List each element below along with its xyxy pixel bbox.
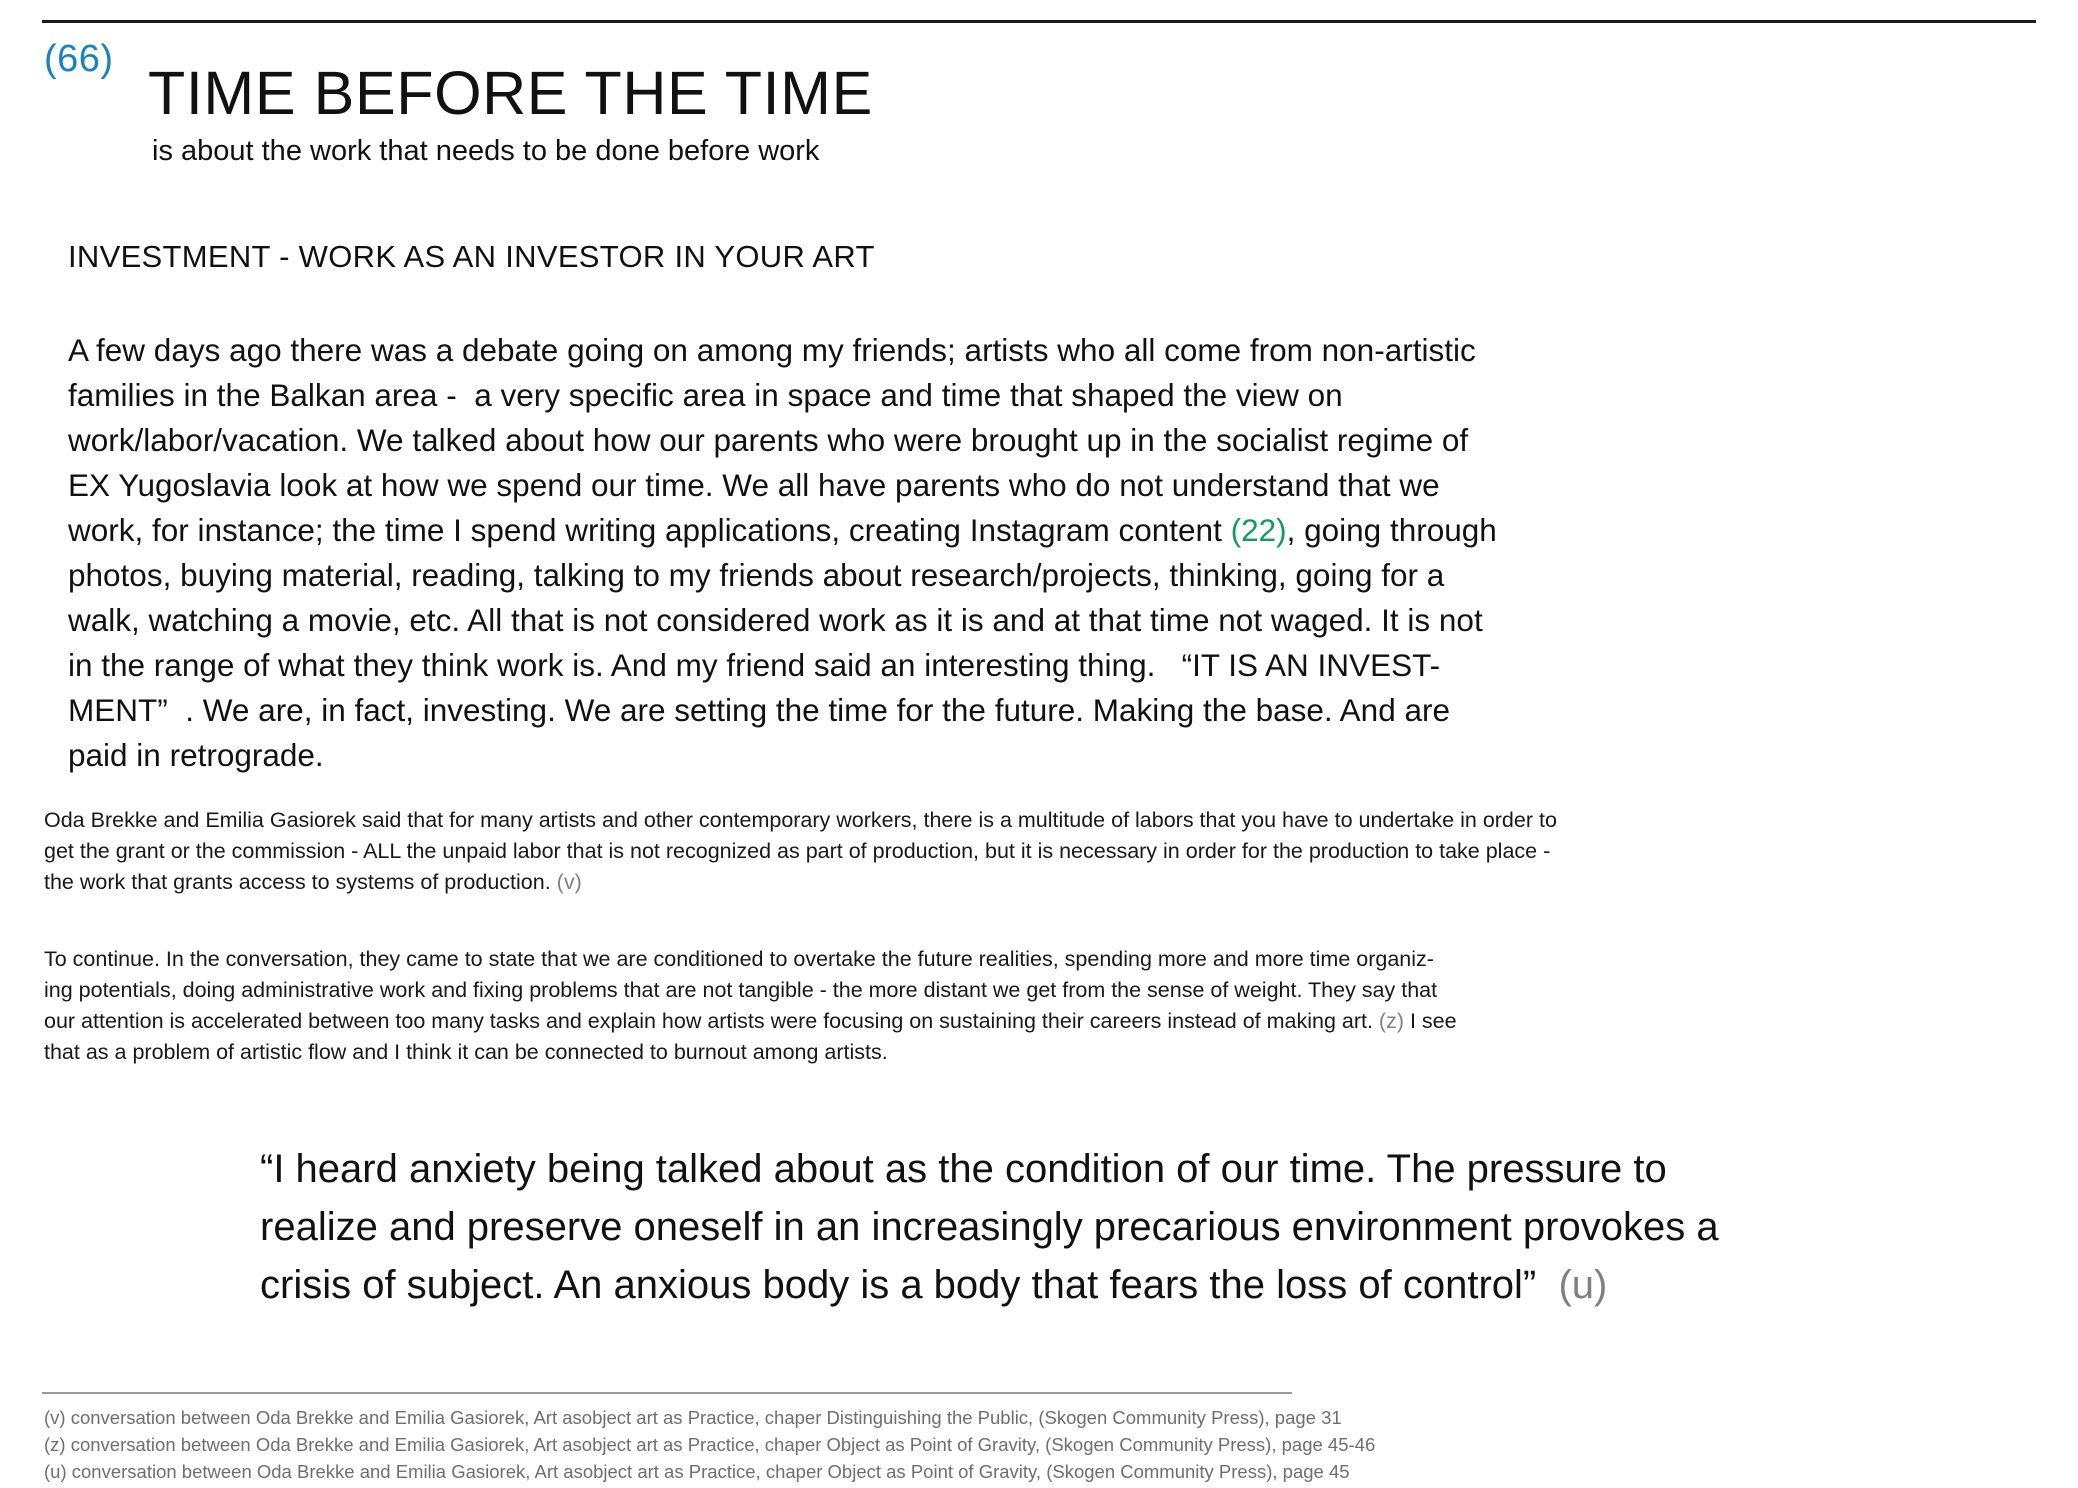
title-block: TIME BEFORE THE TIME is about the work t… bbox=[148, 62, 1648, 170]
footnote-line-v: (v) conversation between Oda Brekke and … bbox=[44, 1404, 2034, 1431]
body-line: that as a problem of artistic flow and I… bbox=[44, 1037, 2034, 1068]
document-page: (66) TIME BEFORE THE TIME is about the w… bbox=[0, 0, 2078, 1488]
pull-quote-line: “I heard anxiety being talked about as t… bbox=[260, 1140, 2000, 1198]
pull-quote-line: crisis of subject. An anxious body is a … bbox=[260, 1256, 2000, 1314]
body-line: photos, buying material, reading, talkin… bbox=[68, 553, 1828, 598]
page-subtitle: is about the work that needs to be done … bbox=[152, 133, 1648, 169]
secondary-paragraph-2: To continue. In the conversation, they c… bbox=[44, 944, 2034, 1068]
pull-quote-text: crisis of subject. An anxious body is a … bbox=[260, 1263, 1558, 1307]
body-line: work/labor/vacation. We talked about how… bbox=[68, 418, 1828, 463]
pull-quote-line: realize and preserve oneself in an incre… bbox=[260, 1198, 2000, 1256]
pull-quote: “I heard anxiety being talked about as t… bbox=[260, 1140, 2000, 1314]
header-divider-rule bbox=[42, 20, 2036, 23]
page-number: (66) bbox=[44, 40, 114, 78]
body-line: the work that grants access to systems o… bbox=[44, 867, 2034, 898]
body-line-text: the work that grants access to systems o… bbox=[44, 870, 557, 894]
secondary-paragraph-1: Oda Brekke and Emilia Gasiorek said that… bbox=[44, 805, 2034, 898]
reference-marker-v: (v) bbox=[557, 870, 582, 894]
reference-marker-z: (z) bbox=[1379, 1009, 1404, 1033]
body-line: A few days ago there was a debate going … bbox=[68, 328, 1828, 373]
footnote-line-u: (u) conversation between Oda Brekke and … bbox=[44, 1458, 2034, 1485]
body-line: families in the Balkan area - a very spe… bbox=[68, 373, 1828, 418]
footnote-divider-rule bbox=[42, 1392, 1292, 1394]
body-line: get the grant or the commission - ALL th… bbox=[44, 836, 2034, 867]
body-line: Oda Brekke and Emilia Gasiorek said that… bbox=[44, 805, 2034, 836]
body-line: To continue. In the conversation, they c… bbox=[44, 944, 2034, 975]
footnote-line-z: (z) conversation between Oda Brekke and … bbox=[44, 1431, 2034, 1458]
body-line: walk, watching a movie, etc. All that is… bbox=[68, 598, 1828, 643]
body-line-text: , going through bbox=[1287, 512, 1497, 548]
main-body-paragraph: A few days ago there was a debate going … bbox=[68, 328, 1828, 778]
footnotes-block: (v) conversation between Oda Brekke and … bbox=[44, 1404, 2034, 1485]
body-line: MENT” . We are, in fact, investing. We a… bbox=[68, 688, 1828, 733]
section-heading: INVESTMENT - WORK AS AN INVESTOR IN YOUR… bbox=[68, 238, 875, 275]
body-line: our attention is accelerated between too… bbox=[44, 1006, 2034, 1037]
body-line-text: our attention is accelerated between too… bbox=[44, 1009, 1379, 1033]
body-line-text: work, for instance; the time I spend wri… bbox=[68, 512, 1231, 548]
reference-marker-u: (u) bbox=[1558, 1263, 1607, 1307]
body-line-text: I see bbox=[1404, 1009, 1457, 1033]
page-title: TIME BEFORE THE TIME bbox=[148, 62, 1648, 125]
body-line: in the range of what they think work is.… bbox=[68, 643, 1828, 688]
body-line: EX Yugoslavia look at how we spend our t… bbox=[68, 463, 1828, 508]
body-line: ing potentials, doing administrative wor… bbox=[44, 975, 2034, 1006]
body-line: work, for instance; the time I spend wri… bbox=[68, 508, 1828, 553]
reference-marker-22: (22) bbox=[1231, 512, 1287, 548]
body-line: paid in retrograde. bbox=[68, 733, 1828, 778]
